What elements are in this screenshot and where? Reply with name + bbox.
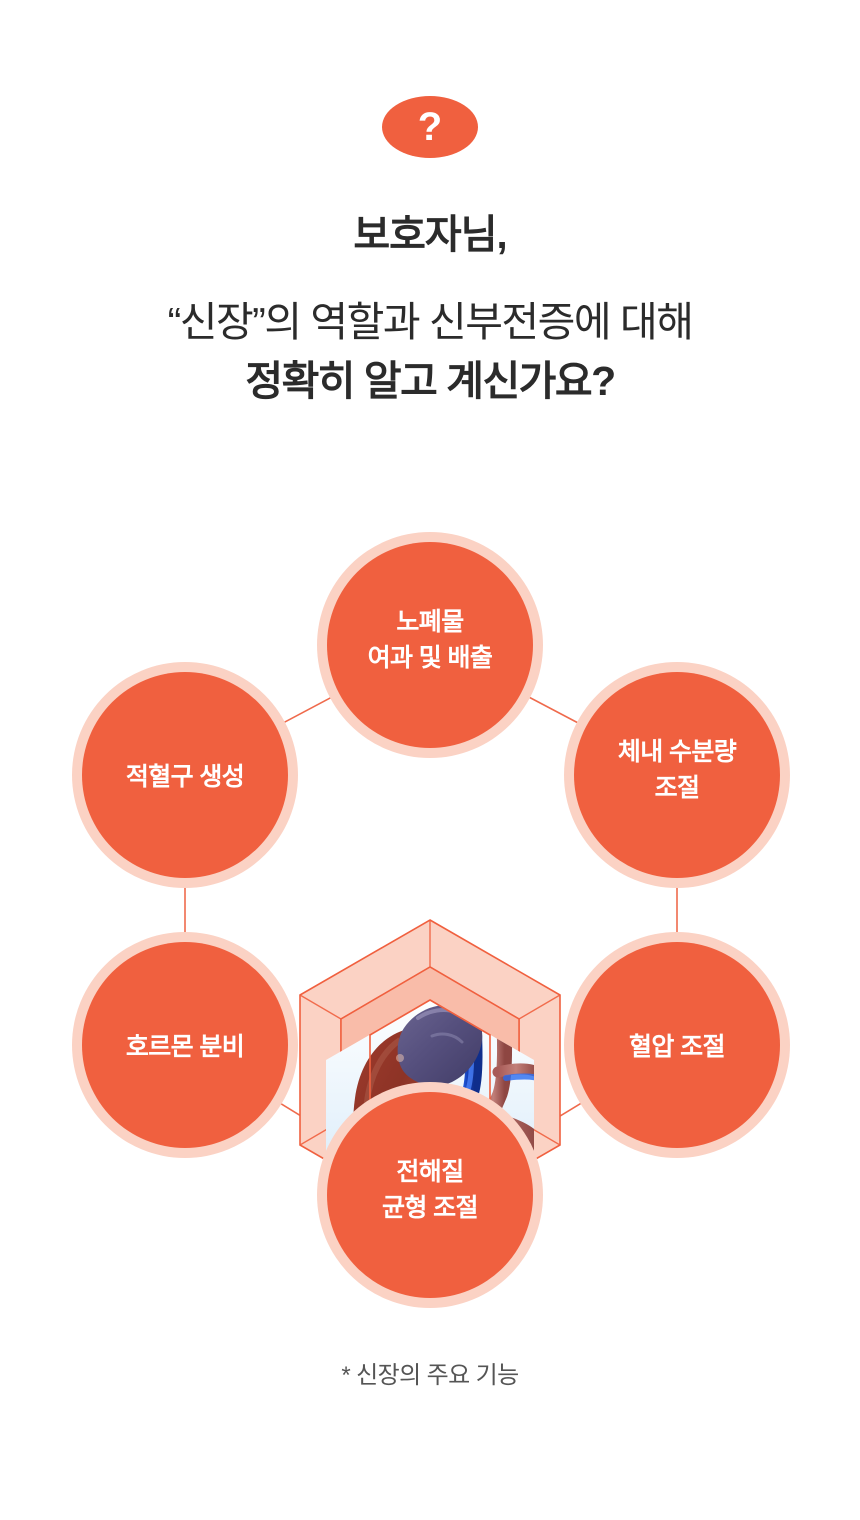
function-node-electrolyte-balance[interactable]: 전해질 균형 조절	[317, 1082, 543, 1308]
greeting-text: 보호자님,	[0, 210, 860, 260]
node-label-line1: 호르몬 분비	[126, 1033, 244, 1061]
kidney-function-diagram: 노폐물 여과 및 배출 체내 수분량 조절 혈압 조절 전해질 균형 조절 호르…	[0, 480, 860, 1320]
function-node-red-blood-cell-production[interactable]: 적혈구 생성	[72, 662, 298, 888]
function-node-blood-pressure-regulation[interactable]: 혈압 조절	[564, 932, 790, 1158]
header: ? 보호자님, “신장”의 역할과 신부전증에 대해 정확히 알고 계신가요?	[0, 0, 860, 409]
question-line-1: “신장”의 역할과 신부전증에 대해	[0, 296, 860, 349]
function-node-body-water-regulation[interactable]: 체내 수분량 조절	[564, 662, 790, 888]
node-label-line1: 혈압 조절	[629, 1033, 725, 1061]
node-label-line1: 노폐물	[396, 608, 464, 636]
question-line-2: 정확히 알고 계신가요?	[0, 355, 860, 408]
node-label-line2: 균형 조절	[382, 1194, 478, 1222]
node-label-line2: 여과 및 배출	[368, 644, 493, 672]
question-mark-icon: ?	[382, 96, 478, 158]
node-label-line1: 적혈구 생성	[126, 763, 244, 791]
node-label-line1: 전해질	[396, 1158, 463, 1186]
node-label-line2: 조절	[655, 774, 700, 802]
footnote-text: * 신장의 주요 기능	[0, 1355, 860, 1390]
function-node-waste-filtration[interactable]: 노폐물 여과 및 배출	[317, 532, 543, 758]
function-node-hormone-secretion[interactable]: 호르몬 분비	[72, 932, 298, 1158]
node-label-line1: 체내 수분량	[618, 738, 737, 766]
